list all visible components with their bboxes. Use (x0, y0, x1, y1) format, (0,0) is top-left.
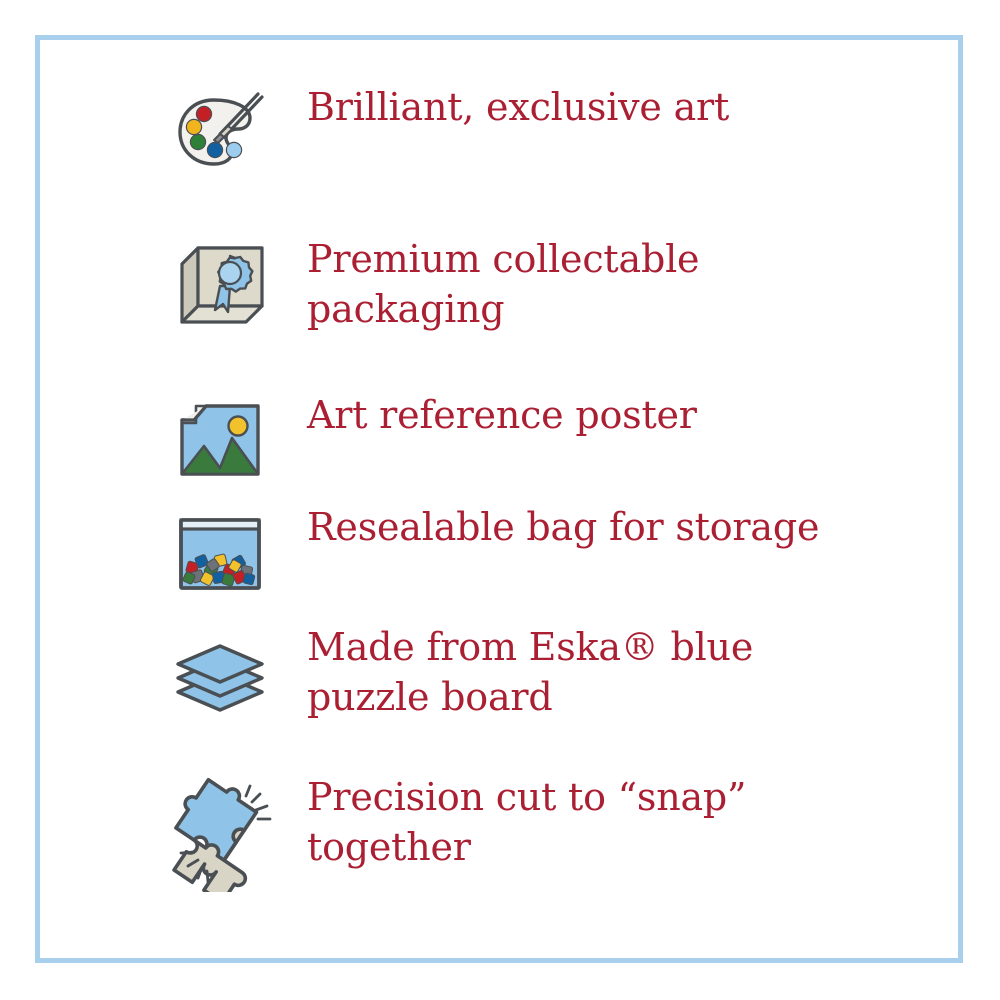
feature-label: Art reference poster (290, 390, 697, 440)
feature-item-resealable-bag: Resealable bag for storage (170, 502, 910, 602)
poster-image-icon (170, 390, 290, 490)
feature-label: Premium collectable packaging (290, 234, 699, 334)
feature-item-premium-packaging: Premium collectable packaging (170, 234, 910, 334)
feature-label: Brilliant, exclusive art (290, 82, 729, 132)
feature-item-precision-snap: Precision cut to “snap” together (170, 772, 910, 892)
resealable-bag-icon (170, 502, 290, 602)
feature-item-art-reference-poster: Art reference poster (170, 390, 910, 490)
stacked-board-icon (170, 622, 290, 722)
infographic-page: Brilliant, exclusive art (0, 0, 1000, 1000)
award-box-icon (170, 234, 290, 334)
snap-puzzle-pieces-icon (170, 772, 290, 892)
feature-item-eska-blue-board: Made from Eska® blue puzzle board (170, 622, 910, 722)
feature-label: Precision cut to “snap” together (290, 772, 746, 872)
feature-label: Made from Eska® blue puzzle board (290, 622, 753, 722)
feature-item-brilliant-exclusive-art: Brilliant, exclusive art (170, 82, 910, 182)
paint-palette-icon (170, 82, 290, 182)
feature-label: Resealable bag for storage (290, 502, 819, 552)
